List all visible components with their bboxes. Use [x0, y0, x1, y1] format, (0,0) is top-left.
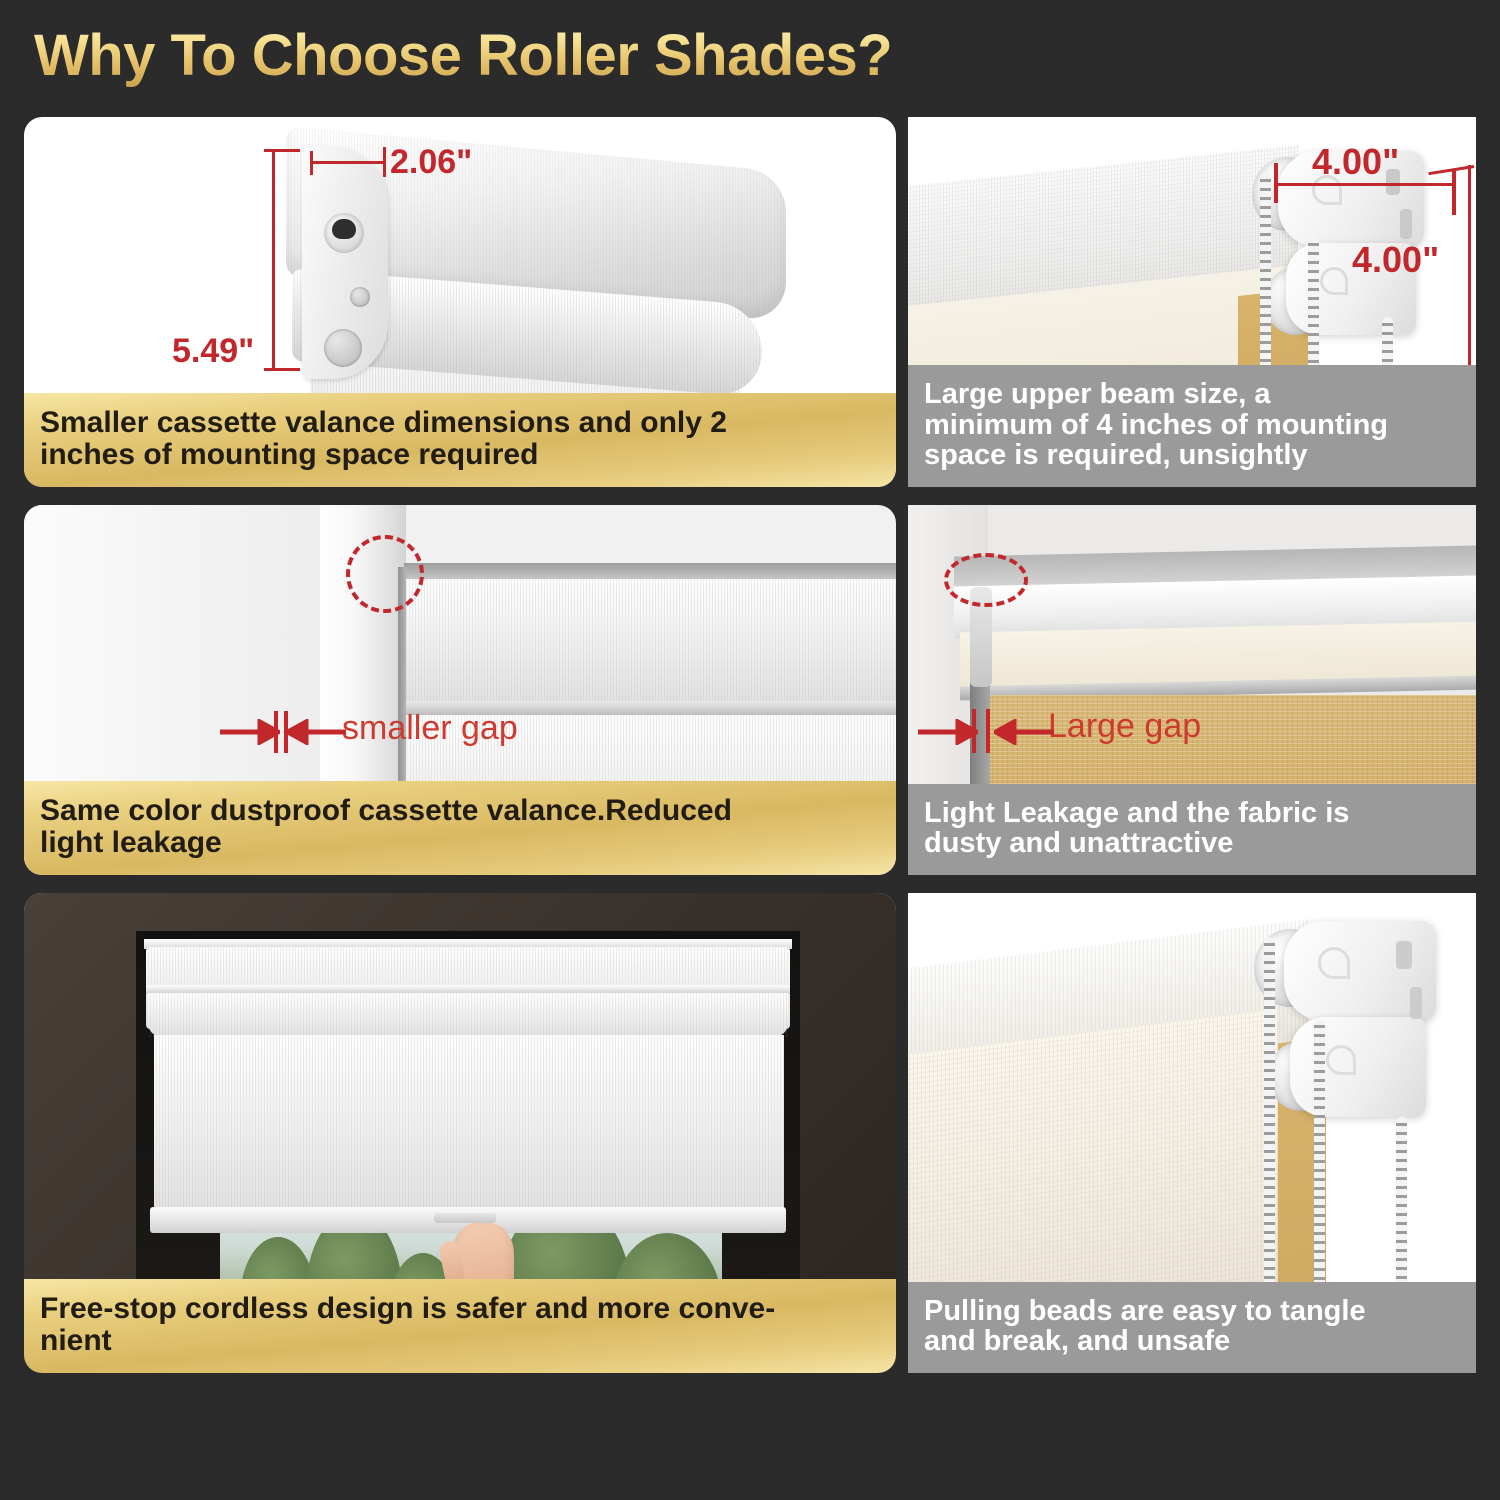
panel-con-beads-caption: Pulling beads are easy to tangle and bre…	[908, 1282, 1476, 1373]
gap-arrow-left	[918, 719, 978, 745]
bracket-icon-lower	[1326, 1045, 1356, 1075]
width-dim-line	[310, 161, 386, 164]
caption-line: Light Leakage and the fabric is	[924, 798, 1460, 829]
panel-pro-gap-caption: Same color dustproof cassette valance.Re…	[24, 781, 896, 875]
width-dim-tick-right	[383, 147, 386, 177]
bracket-slot-b	[1400, 209, 1412, 239]
panel-pro-cordless-caption: Free-stop cordless design is safer and m…	[24, 1279, 896, 1373]
shade-fabric	[154, 1035, 784, 1211]
height-dim-line	[272, 149, 275, 371]
large-gap-label: Large gap	[1048, 707, 1201, 746]
infographic-root: Why To Choose Roller Shades? 5.49" 2.06"…	[0, 0, 1500, 1500]
smaller-gap-label: smaller gap	[342, 709, 518, 748]
caption-line: Same color dustproof cassette valance.Re…	[40, 795, 880, 827]
panel-con-beam-caption: Large upper beam size, a minimum of 4 in…	[908, 365, 1476, 487]
width-dim-tick-left	[310, 151, 313, 175]
height-dimension-label: 5.49"	[172, 332, 254, 371]
cassette-valance-face	[404, 579, 896, 703]
caption-line: Free-stop cordless design is safer and m…	[40, 1293, 880, 1325]
bracket-icon-upper	[1318, 947, 1350, 979]
beam-width-label: 4.00"	[1312, 141, 1399, 183]
caption-line: light leakage	[40, 827, 880, 859]
caption-line: minimum of 4 inches of mounting	[924, 410, 1460, 441]
width-dimension-label: 2.06"	[390, 143, 472, 182]
beam-width-dim-line	[1274, 183, 1456, 186]
gap-highlight-circle	[346, 535, 424, 613]
caption-line: space is required, unsightly	[924, 440, 1460, 471]
panel-pro-gap: smaller gap Same color dustproof cassett…	[24, 505, 896, 875]
panel-con-beads: Pulling beads are easy to tangle and bre…	[908, 893, 1476, 1373]
gap-arrow-right	[994, 719, 1054, 745]
panel-pro-cassette-caption: Smaller cassette valance dimensions and …	[24, 393, 896, 487]
screw-lower	[324, 329, 362, 367]
panel-con-gap-caption: Light Leakage and the fabric is dusty an…	[908, 784, 1476, 875]
gap-highlight-ellipse	[944, 553, 1028, 607]
screw-upper	[350, 287, 370, 307]
beam-height-dim-line	[1468, 165, 1471, 369]
gap-arrow-right	[286, 719, 346, 745]
panel-con-beam: 4.00" 4.00" Large upper beam size, a min…	[908, 117, 1476, 487]
panel-pro-cassette: 5.49" 2.06" Smaller cassette valance dim…	[24, 117, 896, 487]
height-dim-tick-bottom	[264, 368, 300, 371]
bottom-rail-grip	[434, 1213, 496, 1223]
page-title: Why To Choose Roller Shades?	[34, 22, 892, 89]
caption-line: dusty and unattractive	[924, 828, 1460, 859]
caption-line: Pulling beads are easy to tangle	[924, 1296, 1460, 1327]
bracket-knob	[324, 213, 364, 253]
caption-line: inches of mounting space required	[40, 439, 880, 471]
beam-width-tick-left	[1274, 163, 1278, 203]
bracket-icon-lower	[1320, 267, 1348, 295]
beam-height-label: 4.00"	[1352, 239, 1439, 281]
bracket-slot-b	[1410, 987, 1422, 1019]
panel-con-gap: Large gap Light Leakage and the fabric i…	[908, 505, 1476, 875]
roller-tube-face	[148, 993, 788, 1037]
caption-line: and break, and unsafe	[924, 1326, 1460, 1357]
panel-pro-cordless: Free-stop cordless design is safer and m…	[24, 893, 896, 1373]
caption-line: Large upper beam size, a	[924, 379, 1460, 410]
gap-arrow-left	[220, 719, 280, 745]
height-dim-tick-top	[264, 149, 300, 152]
beam-width-tick-right	[1452, 171, 1456, 215]
gap-marker-bar-2	[986, 709, 990, 753]
mounting-bracket-lower	[1290, 1017, 1426, 1117]
bracket-slot-a	[1396, 941, 1412, 969]
caption-line: nient	[40, 1325, 880, 1357]
caption-line: Smaller cassette valance dimensions and …	[40, 407, 880, 439]
